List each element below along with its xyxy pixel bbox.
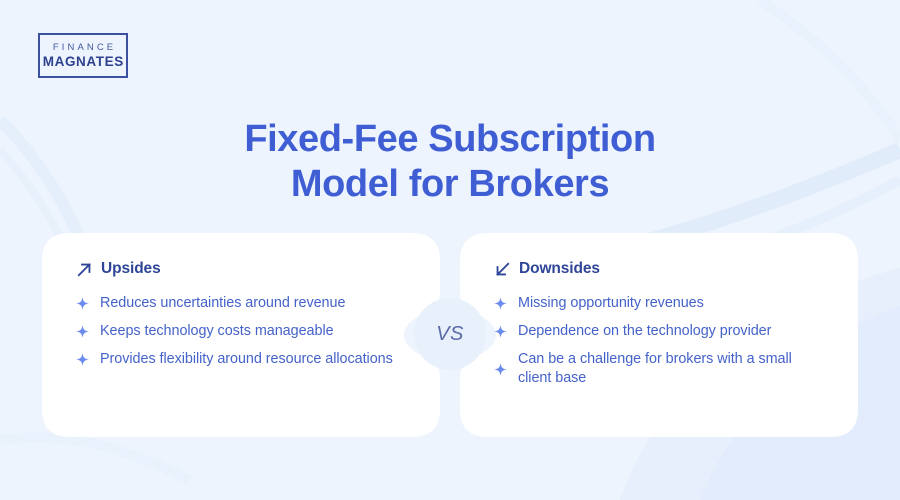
vs-badge-label: VS (436, 323, 463, 346)
infographic-slide: FINANCE MAGNATES Fixed-Fee Subscription … (0, 0, 900, 500)
list-item-text: Provides flexibility around resource all… (100, 350, 393, 369)
card-upsides-header: Upsides (76, 259, 410, 279)
sparkle-icon (76, 353, 89, 366)
list-item: Reduces uncertainties around revenue (76, 294, 410, 313)
sparkle-icon (76, 325, 89, 338)
list-item: Missing opportunity revenues (494, 294, 828, 313)
card-upsides: Upsides Reduces uncertainties around rev… (42, 233, 440, 437)
list-item: Keeps technology costs manageable (76, 322, 410, 341)
card-downsides: Downsides Missing opportunity revenues D… (460, 233, 858, 437)
card-downsides-header: Downsides (494, 259, 828, 279)
vs-badge: VS (414, 298, 486, 370)
list-item: Can be a challenge for brokers with a sm… (494, 350, 828, 388)
list-item-text: Reduces uncertainties around revenue (100, 294, 345, 313)
arrow-down-left-icon (494, 261, 511, 278)
sparkle-icon (494, 363, 507, 376)
page-title: Fixed-Fee Subscription Model for Brokers (0, 117, 900, 207)
list-item: Provides flexibility around resource all… (76, 350, 410, 369)
brand-logo-line-finance: FINANCE (50, 43, 117, 53)
list-item: Dependence on the technology provider (494, 322, 828, 341)
card-downsides-heading: Downsides (519, 260, 600, 278)
page-title-line-2: Model for Brokers (0, 162, 900, 207)
card-upsides-heading: Upsides (101, 260, 161, 278)
list-item-text: Dependence on the technology provider (518, 322, 771, 341)
sparkle-icon (494, 297, 507, 310)
list-item-text: Keeps technology costs manageable (100, 322, 334, 341)
list-item-text: Can be a challenge for brokers with a sm… (518, 350, 808, 388)
card-downsides-list: Missing opportunity revenues Dependence … (494, 294, 828, 388)
arrow-up-right-icon (76, 261, 93, 278)
brand-logo-line-magnates: MAGNATES (42, 55, 124, 69)
list-item-text: Missing opportunity revenues (518, 294, 704, 313)
sparkle-icon (76, 297, 89, 310)
page-title-line-1: Fixed-Fee Subscription (0, 117, 900, 162)
card-upsides-list: Reduces uncertainties around revenue Kee… (76, 294, 410, 369)
sparkle-icon (494, 325, 507, 338)
brand-logo[interactable]: FINANCE MAGNATES (38, 33, 128, 78)
